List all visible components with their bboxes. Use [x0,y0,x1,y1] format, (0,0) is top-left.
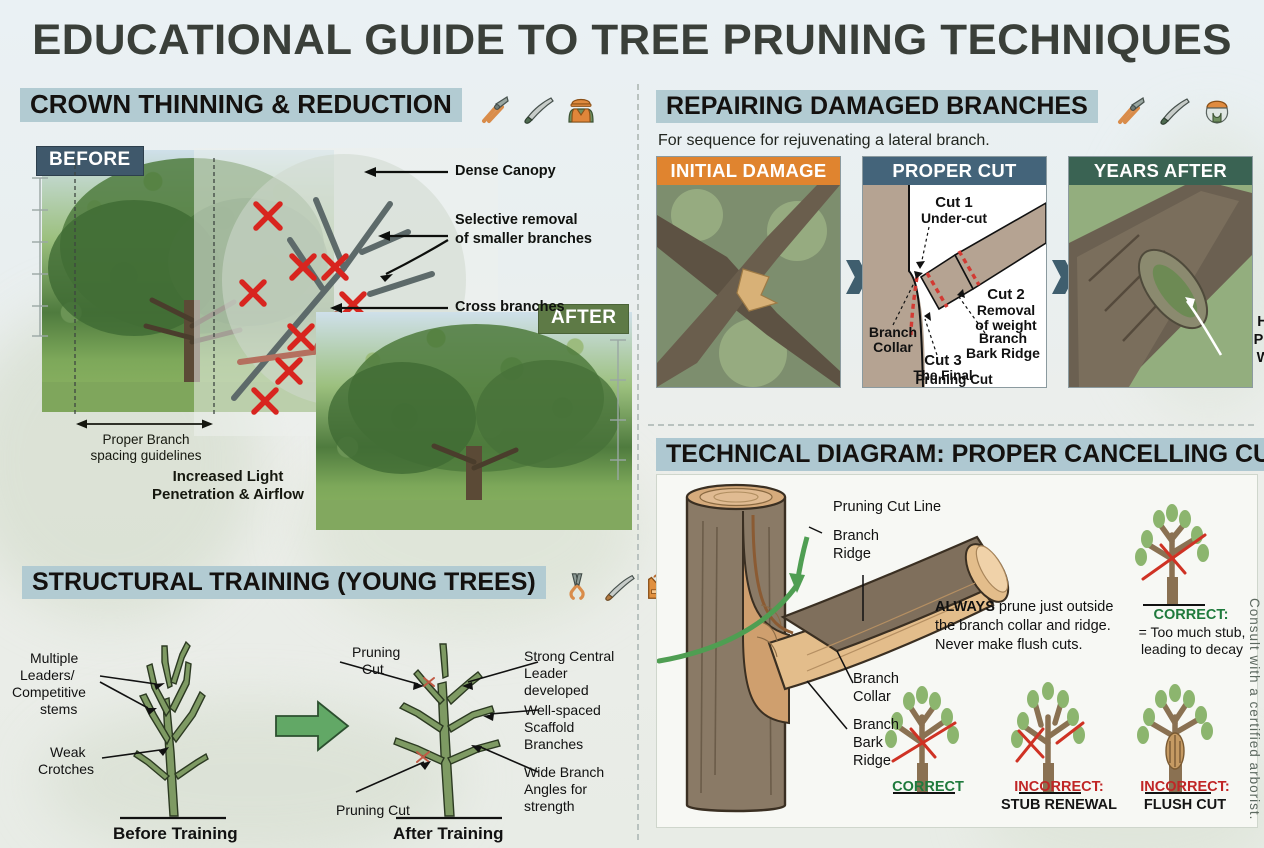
pruning-shears-icon [1114,93,1148,127]
sidenote-arborist: Consult with a certified arborist. [1247,598,1262,820]
always-bold: ALWAYS [935,599,995,615]
light-label-1: Increased Light [138,468,318,486]
label-branch-angles-3: strength [524,798,575,815]
label-healed-2: Pruning [1252,332,1264,349]
section-crown-thinning: CROWN THINNING & REDUCTION [20,88,632,126]
mini-sub-stub-renewal: STUB RENEWAL [996,796,1122,814]
horizontal-divider [648,424,1254,426]
svg-text:Under-cut: Under-cut [921,210,987,226]
arborist-worker-icon [564,92,598,126]
svg-text:Cut 3: Cut 3 [924,352,962,369]
mini-label-correct: CORRECT [878,778,978,796]
section-technical-diagram: TECHNICAL DIAGRAM: PROPER CANCELLING CUT… [656,438,1264,471]
panel-years-after-head: YEARS AFTER [1069,157,1252,185]
label-multiple-leaders-3: Competitive [12,684,128,701]
spacing-label-1: Proper Branch [78,432,214,448]
label-scaffold-3: Branches [524,736,583,753]
svg-text:Branch: Branch [869,324,917,340]
label-weak-crotches-1: Weak [50,744,120,761]
panel-proper-cut: PROPER CUT PROCESS [862,156,1047,388]
svg-text:Cut 2: Cut 2 [987,286,1025,303]
label-bark-ridge-3: Ridge [853,753,891,771]
pruning-saw-icon [1157,93,1191,127]
label-branch-collar-2: Collar [853,689,891,707]
label-multiple-leaders-1: Multiple [30,650,124,667]
label-scaffold-1: Well-spaced [524,702,601,719]
label-pruning-cut-bottom: Pruning Cut [336,802,410,819]
page-title: EDUCATIONAL GUIDE TO TREE PRUNING TECHNI… [0,16,1264,65]
mini-label-incorrect-stub: INCORRECT: [1004,778,1114,796]
label-pruning-cut-line: Pruning Cut Line [833,499,941,517]
vertical-divider [637,84,639,840]
svg-text:Branch: Branch [979,330,1027,346]
label-branch-angles-2: Angles for [524,781,587,798]
label-pruning-cut-top-2: Cut [362,661,384,678]
panel-years-after-photo [1069,185,1252,387]
label-cut3-line3: Pruning Cut [896,372,1012,387]
mini-note-stub-2: leading to decay [1128,641,1256,658]
mini-label-incorrect-flush: INCORRECT: [1130,778,1240,796]
svg-text:Bark Ridge: Bark Ridge [966,345,1040,361]
label-branch-ridge-2: Ridge [833,546,871,564]
always-note: ALWAYS prune just outside the branch col… [935,598,1130,655]
crown-stage: BEFORE AFTER [18,140,630,560]
safety-helmet-icon [1200,93,1234,127]
label-bark-ridge-1: Branch [853,717,899,735]
label-scaffold-2: Scaffold [524,719,574,736]
section-structural-training: STRUCTURAL TRAINING (YOUNG TREES) [22,566,676,602]
mini-sub-flush-cut: FLUSH CUT [1130,796,1240,814]
svg-text:Collar: Collar [873,339,913,355]
label-weak-crotches-2: Crotches [38,761,130,778]
panel-initial-damage-photo [657,185,840,387]
panel-years-after: YEARS AFTER [1068,156,1253,388]
mini-note-stub-1: = Too much stub, [1128,624,1256,641]
svg-text:Cut 1: Cut 1 [935,194,973,211]
mini-label-correct-stub: CORRECT: [1136,606,1246,624]
crown-banner-label: CROWN THINNING & REDUCTION [20,88,462,122]
structural-stage: Multiple Leaders/ Competitive stems Weak… [0,604,634,848]
panel-proper-cut-diagram: Cut 1 Under-cut Cut 2 Removal of weight … [863,185,1046,387]
label-central-leader-1: Strong Central [524,648,614,665]
label-healed-3: Wound [1252,350,1264,367]
repairing-panel-row: INITIAL DAMAGE PROPER CUT PROCESS [656,156,1256,388]
label-branch-angles-1: Wide Branch [524,764,604,781]
repairing-tool-icons [1114,93,1234,127]
label-pruning-cut-top-1: Pruning [352,644,400,661]
infographic-page: EDUCATIONAL GUIDE TO TREE PRUNING TECHNI… [0,0,1264,848]
caption-before-training: Before Training [113,824,238,844]
light-label-2: Penetration & Airflow [126,486,330,504]
caption-after-training: After Training [393,824,504,844]
label-branch-collar-1: Branch [853,671,899,689]
structural-banner-label: STRUCTURAL TRAINING (YOUNG TREES) [22,566,546,599]
label-multiple-leaders-2: Leaders/ [20,667,124,684]
label-branch-ridge-1: Branch [833,528,879,546]
label-central-leader-2: Leader developed [524,665,634,699]
panel-initial-damage: INITIAL DAMAGE [656,156,841,388]
pruning-shears-icon [478,92,512,126]
repairing-subtitle: For sequence for rejuvenating a lateral … [658,132,990,150]
panel-initial-damage-head: INITIAL DAMAGE [657,157,840,185]
label-multiple-leaders-4: stems [40,701,120,718]
transition-arrow [276,702,348,750]
svg-text:Removal: Removal [977,302,1035,318]
pruning-saw-icon [521,92,555,126]
spacing-label-2: spacing guidelines [78,448,214,464]
label-healed-1: Healed [1252,314,1264,331]
label-bark-ridge-2: Bark [853,735,883,753]
hand-pruners-icon [562,570,594,602]
technical-banner-label: TECHNICAL DIAGRAM: PROPER CANCELLING CUT… [656,438,1264,471]
section-repairing-branches: REPAIRING DAMAGED BRANCHES [656,90,1234,127]
crown-tool-icons [478,92,598,126]
pruning-saw-icon [603,570,635,602]
panel-proper-cut-head: PROPER CUT PROCESS [863,157,1046,185]
repairing-banner-label: REPAIRING DAMAGED BRANCHES [656,90,1098,123]
